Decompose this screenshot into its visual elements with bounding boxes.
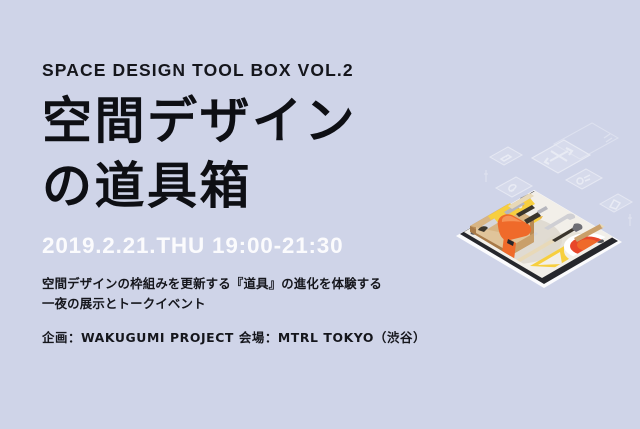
poster-date: 2019.2.21.THU 19:00-21:30 <box>42 235 472 258</box>
poster-headline-line-1: 空間デザイン <box>42 89 472 154</box>
poster-credits: 企画：WAKUGUMI PROJECT 会場：MTRL TOKYO（渋谷） <box>42 332 472 344</box>
poster-canvas: SPACE DESIGN TOOL BOX VOL.2 空間デザイン の道具箱 … <box>0 0 640 429</box>
panel-ruler <box>490 147 522 165</box>
poster-headline-line-2: の道具箱 <box>42 154 472 219</box>
panel-paint-brush <box>566 169 602 189</box>
panel-hammer-cross <box>532 140 590 173</box>
poster-text-block: SPACE DESIGN TOOL BOX VOL.2 空間デザイン の道具箱 … <box>42 62 472 345</box>
poster-kicker: SPACE DESIGN TOOL BOX VOL.2 <box>42 62 472 80</box>
poster-lead-text: 空間デザインの枠組みを更新する『道具』の進化を体験する 一夜の展示とトークイベン… <box>42 274 472 314</box>
poster-lead-line-1: 空間デザインの枠組みを更新する『道具』の進化を体験する <box>42 274 472 294</box>
panel-lightbulb <box>496 177 532 197</box>
panel-pen-tool <box>600 194 632 212</box>
poster-headline: 空間デザイン の道具箱 <box>42 89 472 219</box>
poster-lead-line-2: 一夜の展示とトークイベント <box>42 294 472 314</box>
